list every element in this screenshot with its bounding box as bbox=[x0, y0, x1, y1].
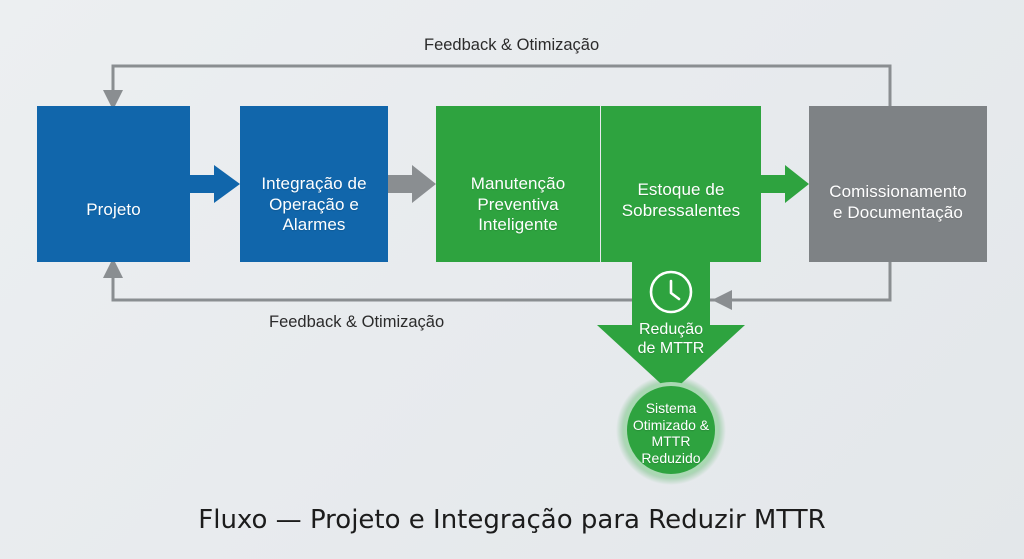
arrow-integracao-to-manutencao bbox=[388, 165, 436, 203]
node-projeto-label: Projeto bbox=[86, 200, 141, 221]
reducao-mttr-label-line2: de MTTR bbox=[638, 340, 705, 357]
feedback-bottom-label: Feedback & Otimização bbox=[269, 313, 444, 332]
node-estoque-label: Estoque deSobressalentes bbox=[622, 180, 741, 221]
sistema-otimizado-label: Sistema Otimizado & MTTR Reduzido bbox=[611, 400, 731, 466]
circle-line-4: Reduzido bbox=[641, 450, 700, 466]
feedback-loop-bottom bbox=[103, 258, 890, 310]
node-comissionamento-label: Comissionamentoe Documentação bbox=[829, 182, 967, 223]
arrow-projeto-to-integracao bbox=[190, 165, 240, 203]
node-integracao[interactable]: Integração deOperação eAlarmes bbox=[240, 106, 388, 262]
reducao-mttr-label-line1: Redução bbox=[639, 321, 703, 338]
connector-layer bbox=[0, 0, 1024, 559]
circle-line-2: Otimizado & bbox=[633, 417, 709, 433]
node-projeto[interactable]: Projeto bbox=[37, 106, 190, 262]
reducao-mttr-label: Redução de MTTR bbox=[611, 320, 731, 358]
node-manutencao-label: ManutençãoPreventivaInteligente bbox=[471, 174, 566, 236]
diagram-canvas: Projeto Integração deOperação eAlarmes M… bbox=[0, 0, 1024, 559]
arrow-estoque-to-comissionamento bbox=[761, 165, 809, 203]
node-manutencao[interactable]: ManutençãoPreventivaInteligente bbox=[436, 106, 600, 262]
feedback-loop-top bbox=[103, 66, 890, 110]
feedback-top-label: Feedback & Otimização bbox=[424, 36, 599, 55]
circle-line-3: MTTR bbox=[652, 433, 691, 449]
diagram-title: Fluxo — Projeto e Integração para Reduzi… bbox=[0, 505, 1024, 535]
circle-line-1: Sistema bbox=[646, 400, 697, 416]
node-estoque[interactable]: Estoque deSobressalentes bbox=[601, 106, 761, 262]
node-comissionamento[interactable]: Comissionamentoe Documentação bbox=[809, 106, 987, 262]
node-integracao-label: Integração deOperação eAlarmes bbox=[261, 174, 366, 236]
